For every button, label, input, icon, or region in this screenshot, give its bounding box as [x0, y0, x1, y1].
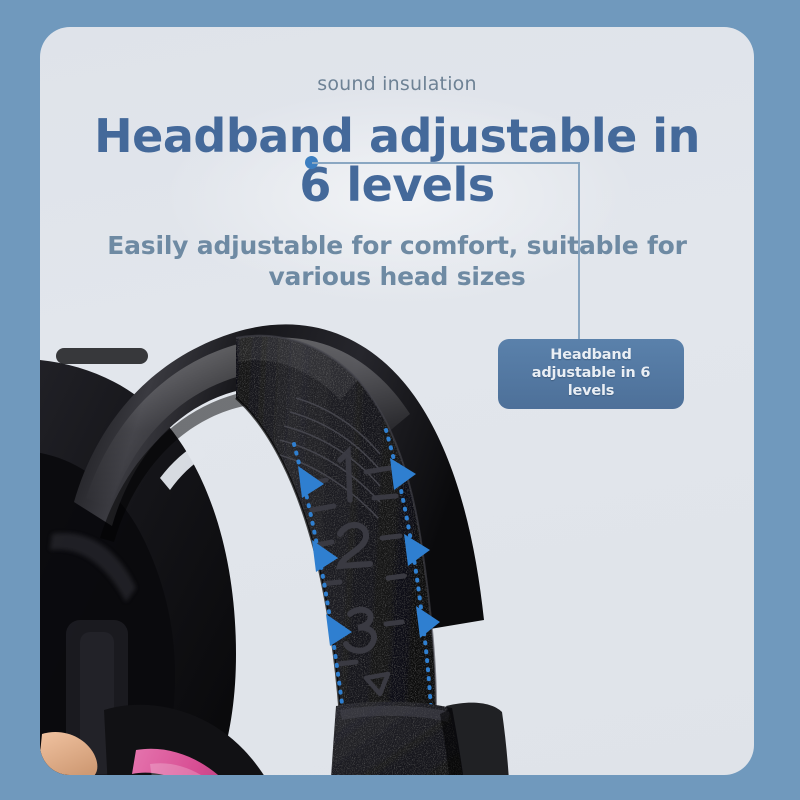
callout-leader-line-horizontal [312, 162, 580, 164]
eyebrow-text: sound insulation [40, 73, 754, 96]
poster-frame: sound insulation Headband adjustable in … [0, 0, 800, 800]
subtitle-text: Easily adjustable for comfort, suitable … [62, 231, 732, 292]
content-panel: sound insulation Headband adjustable in … [40, 27, 754, 775]
header-text-block: sound insulation Headband adjustable in … [40, 27, 754, 292]
callout-leader-line-vertical [578, 162, 580, 340]
page-title: Headband adjustable in 6 levels [77, 112, 717, 210]
callout-badge: Headband adjustable in 6 levels [498, 339, 684, 409]
headband-yoke [326, 702, 470, 775]
